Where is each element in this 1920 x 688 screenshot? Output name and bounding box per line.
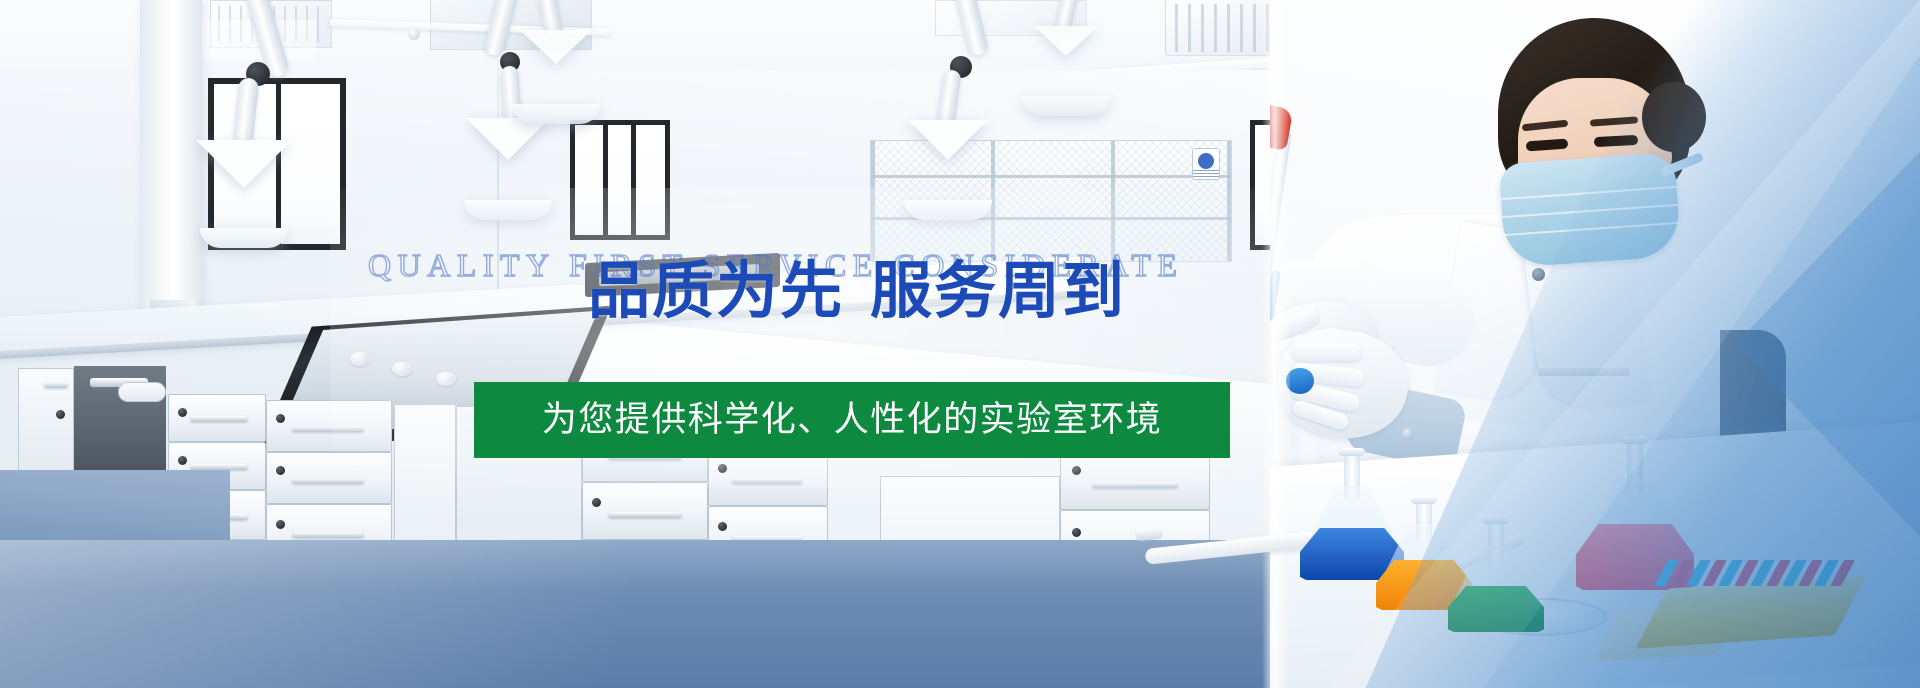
headline-part-2: 服务周到 <box>870 254 1126 327</box>
subtitle-bar: 为您提供科学化、人性化的实验室环境 <box>474 382 1230 458</box>
hero-banner: QUALITY FIRST SERVICE CONSIDERATE 品质为先服务… <box>0 0 1920 688</box>
hero-text-block: QUALITY FIRST SERVICE CONSIDERATE 品质为先服务… <box>0 0 1920 688</box>
page-title: 品质为先服务周到 <box>588 255 1126 326</box>
headline-part-1: 品质为先 <box>588 254 844 327</box>
subtitle-bar-text: 为您提供科学化、人性化的实验室环境 <box>542 403 1163 438</box>
